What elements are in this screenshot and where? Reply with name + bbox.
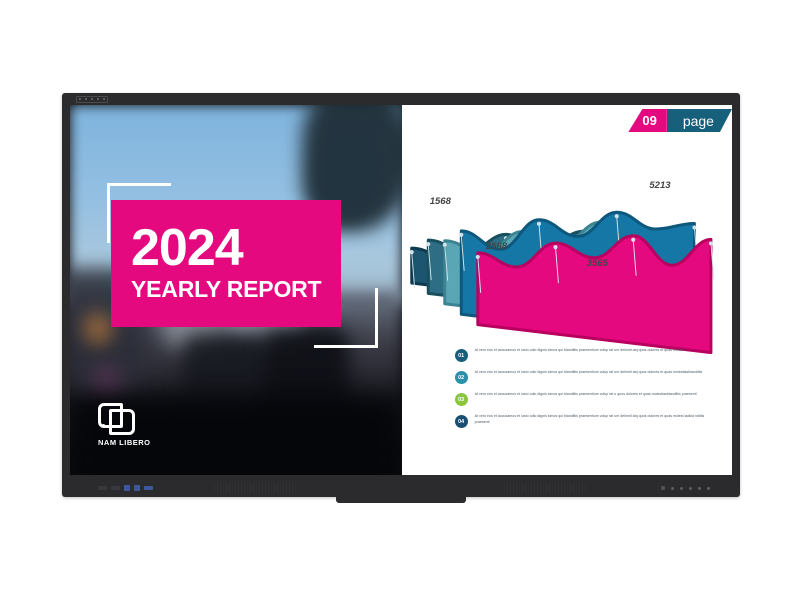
chart-pin-head	[614, 214, 618, 218]
chart-annotation-3565: 3565	[587, 258, 608, 269]
chart-svg	[402, 127, 732, 357]
sensor-dot	[79, 98, 81, 100]
front-control-panel[interactable]	[98, 485, 153, 491]
speaker-grille-left	[214, 484, 298, 492]
speaker-grille-right	[504, 484, 588, 492]
list-item: 01At vero eos et accusamus et iusto odio…	[455, 348, 718, 362]
bullet-text: At vero eos et accusamus et iusto odio d…	[475, 348, 686, 354]
button-dot[interactable]	[698, 487, 701, 490]
bullet-number-badge: 04	[455, 415, 468, 428]
chart-pin-head	[459, 233, 463, 237]
screenshot-root: 2024 YEARLY REPORT NAM LIBERO	[0, 0, 800, 600]
brand-name: NAM LIBERO	[98, 438, 168, 447]
list-item: 03At vero eos et accusamus et iusto odio…	[455, 392, 718, 406]
chart-pin-head	[537, 222, 541, 226]
screen-content: 2024 YEARLY REPORT NAM LIBERO	[70, 105, 732, 475]
chart-pin-head	[631, 238, 635, 242]
menu-icon[interactable]	[98, 486, 107, 490]
area-ridge-chart: 1568 2568 5213 3565	[402, 127, 732, 357]
bullet-text: At vero eos et accusamus et iusto odio d…	[475, 370, 703, 376]
chart-pin-head	[475, 255, 479, 259]
report-subtitle: YEARLY REPORT	[131, 277, 341, 302]
slide-yearly-report-cover[interactable]: 2024 YEARLY REPORT NAM LIBERO	[70, 105, 402, 475]
home-icon[interactable]	[124, 485, 130, 491]
bullet-number-badge: 01	[455, 349, 468, 362]
sensor-dot	[97, 98, 99, 100]
bezel-sensor-strip	[76, 96, 108, 103]
chart-pin-head	[409, 250, 413, 254]
bullet-number-badge: 03	[455, 393, 468, 406]
interactive-flat-panel-display: 2024 YEARLY REPORT NAM LIBERO	[62, 93, 740, 497]
logo-mark-icon	[98, 403, 132, 433]
chart-annotation-5213: 5213	[649, 180, 670, 191]
sensor-dot	[85, 98, 87, 100]
chart-pin-head	[442, 243, 446, 247]
slide-chart-page[interactable]: 09 page 1568 2568 5213 3565 01At vero eo…	[402, 105, 732, 475]
brand-logo: NAM LIBERO	[98, 403, 168, 447]
chassis-chin-protrusion	[336, 495, 466, 503]
sensor-dot	[103, 98, 105, 100]
button-dot[interactable]	[671, 487, 674, 490]
bullet-number-badge: 02	[455, 371, 468, 384]
list-item: 04At vero eos et accusamus et iusto odio…	[455, 414, 718, 428]
chart-annotation-1568: 1568	[430, 196, 451, 207]
display-bottom-bezel	[62, 475, 740, 497]
button-dot[interactable]	[689, 487, 692, 490]
front-button-row[interactable]	[661, 486, 710, 490]
button-dot[interactable]	[680, 487, 683, 490]
display-screen: 2024 YEARLY REPORT NAM LIBERO	[70, 105, 732, 475]
bullet-text: At vero eos et accusamus et iusto odio d…	[475, 414, 718, 425]
back-icon[interactable]	[134, 485, 140, 491]
settings-icon[interactable]	[144, 486, 153, 490]
chart-pin-head	[709, 241, 713, 245]
chart-pin-head	[692, 225, 696, 229]
bullet-text: At vero eos et accusamus et iusto odio d…	[475, 392, 697, 398]
chart-pin-head	[553, 245, 557, 249]
chart-annotation-2568: 2568	[486, 241, 507, 252]
year-heading: 2024	[131, 224, 341, 274]
power-button[interactable]	[661, 486, 665, 490]
sensor-dot	[91, 98, 93, 100]
title-card: 2024 YEARLY REPORT	[111, 200, 341, 327]
list-icon[interactable]	[111, 486, 120, 490]
list-item: 02At vero eos et accusamus et iusto odio…	[455, 370, 718, 384]
button-dot[interactable]	[707, 487, 710, 490]
chart-pin-head	[426, 242, 430, 246]
bullet-list: 01At vero eos et accusamus et iusto odio…	[455, 348, 718, 436]
